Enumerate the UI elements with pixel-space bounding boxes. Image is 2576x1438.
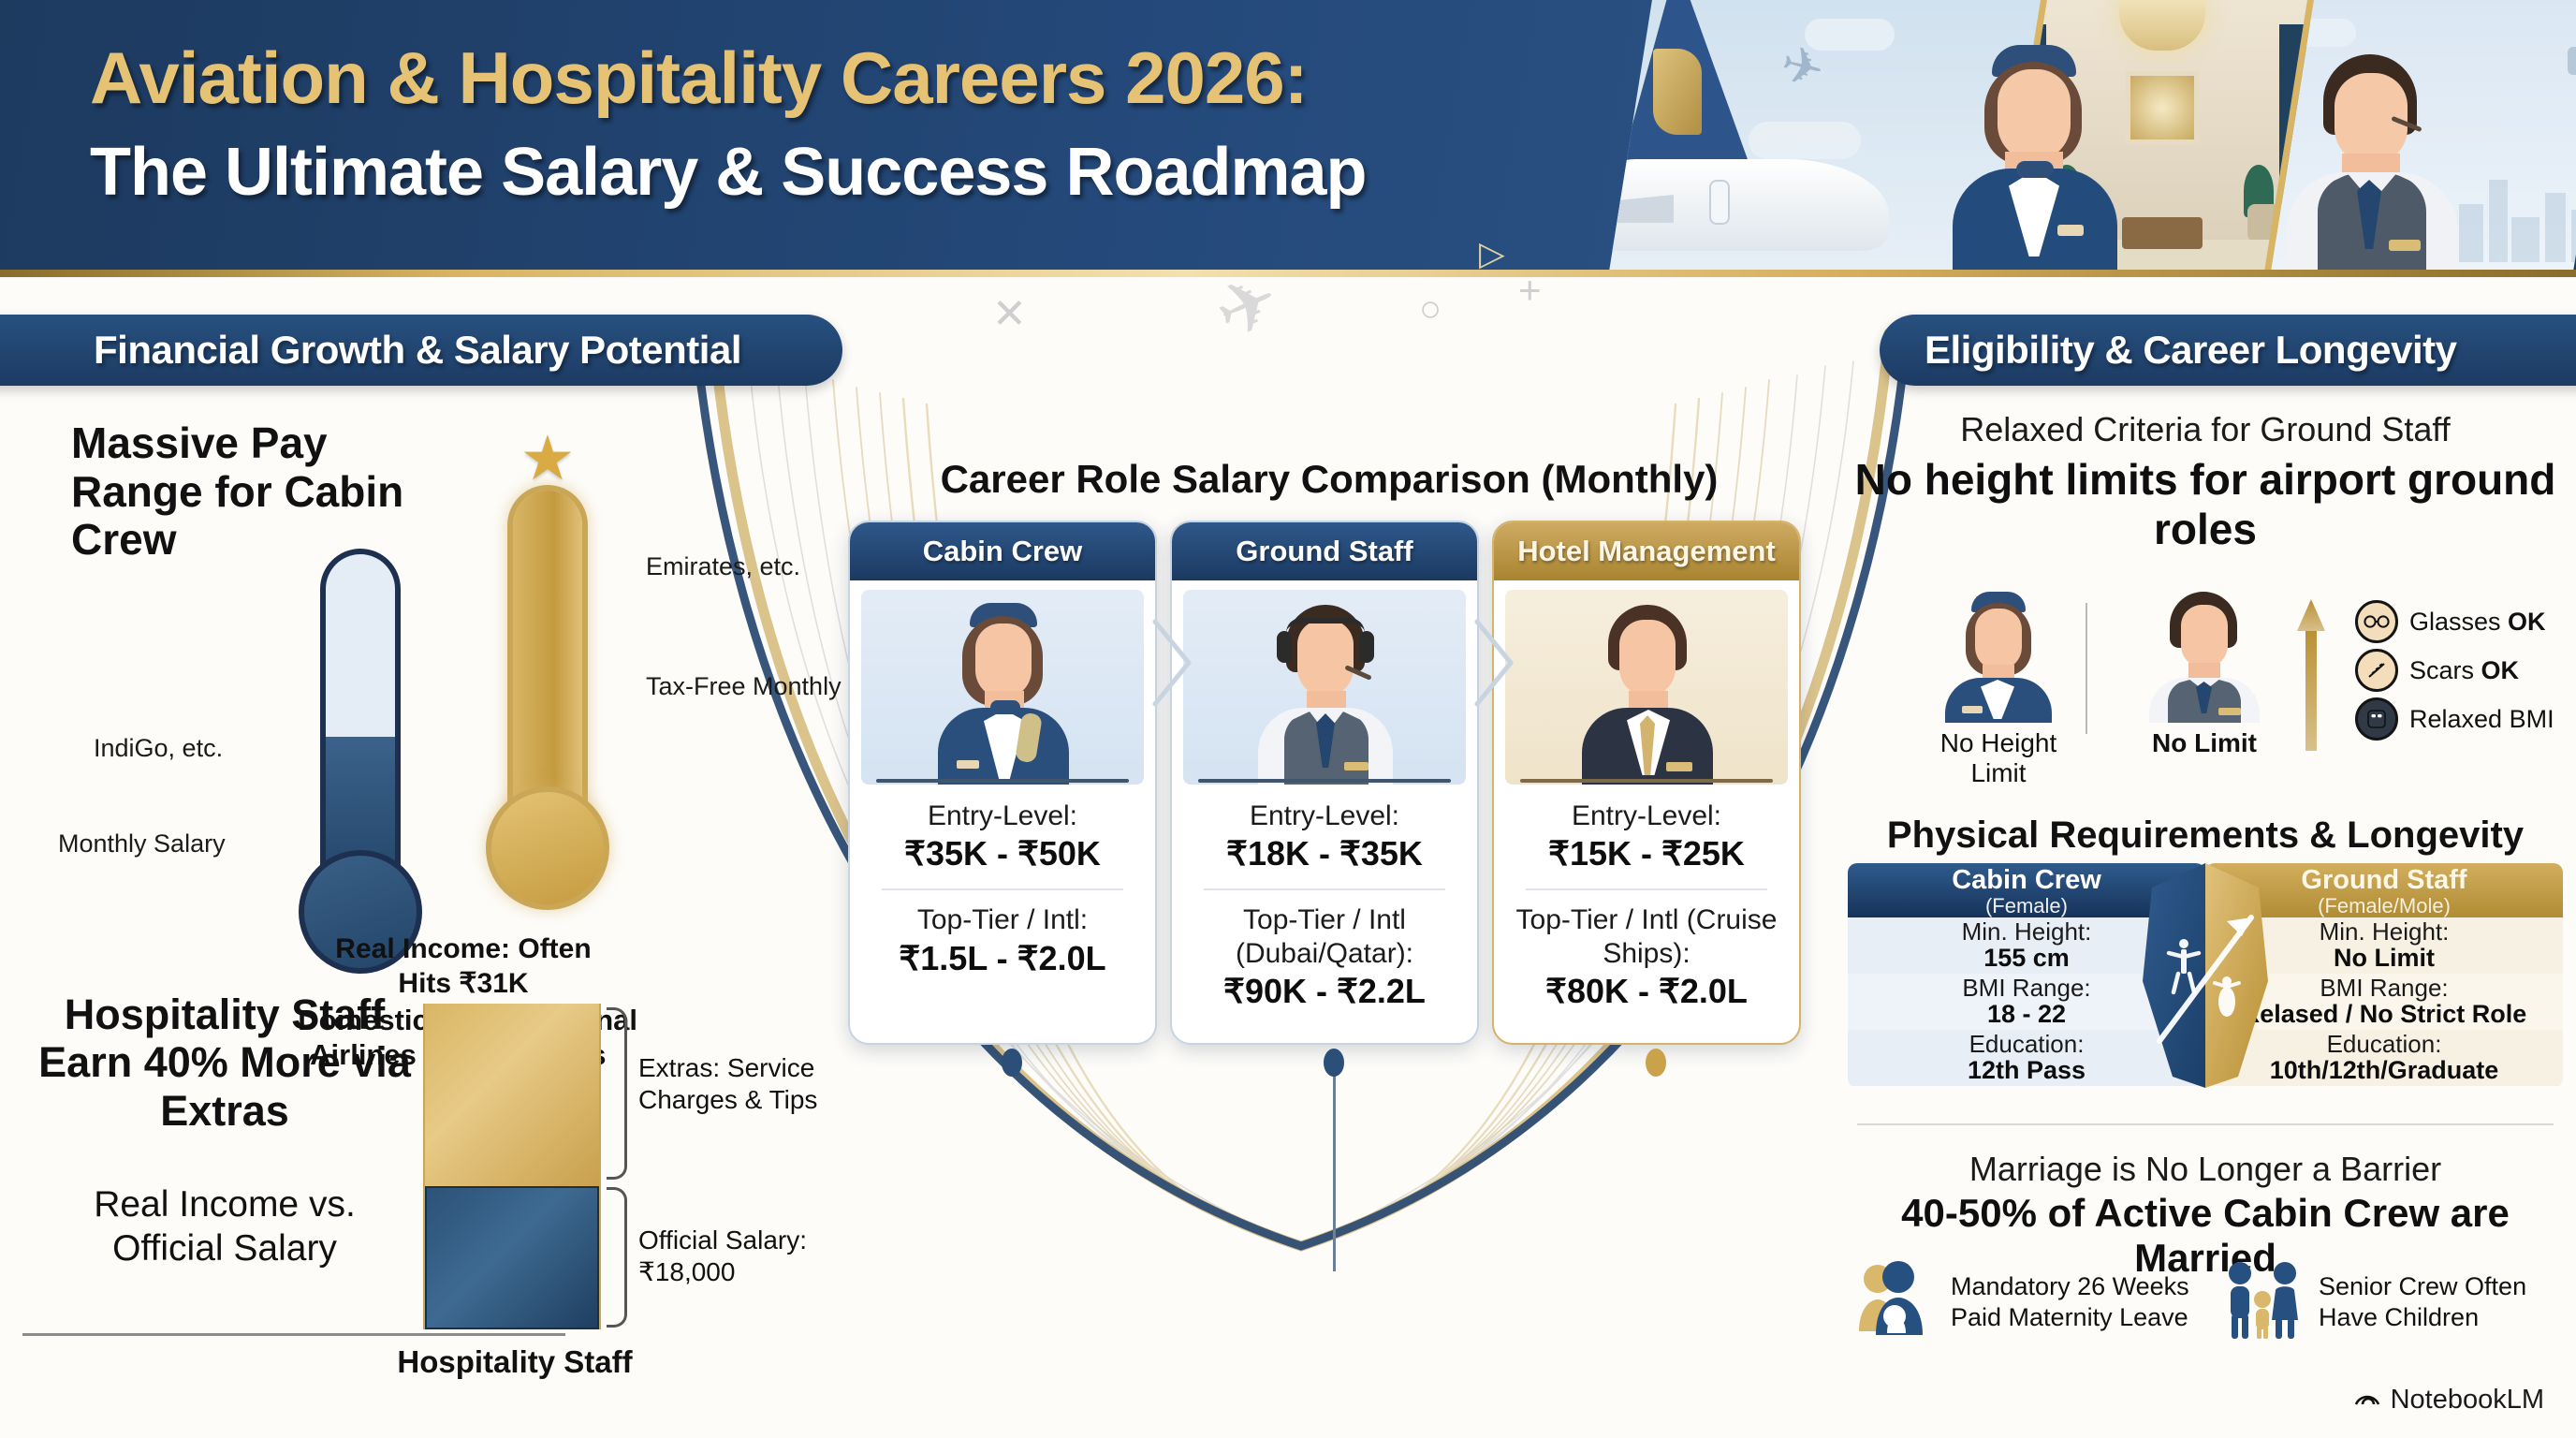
ok-label-bmi: Relaxed BMI bbox=[2409, 705, 2554, 734]
entry-value-hotel-management: ₹15K - ₹25K bbox=[1507, 834, 1786, 873]
thermometer-chart: IndiGo, etc. Monthly Salary Domestic Air… bbox=[0, 384, 824, 964]
headphone-left-icon bbox=[1277, 631, 1292, 663]
label-tax-free: Tax-Free Monthly bbox=[646, 672, 842, 701]
page-title-line1: Aviation & Hospitality Careers 2026: bbox=[90, 36, 1606, 121]
mother-child-icon bbox=[1850, 1255, 1939, 1349]
ok-item-scars: Scars OK bbox=[2355, 646, 2576, 695]
card-title-hotel-management: Hotel Management bbox=[1517, 535, 1776, 568]
top-label-cabin-crew: Top-Tier / Intl: bbox=[863, 903, 1142, 936]
top-value-ground-staff: ₹90K - ₹2.2L bbox=[1185, 972, 1464, 1011]
card-body-ground-staff: Entry-Level: ₹18K - ₹35K Top-Tier / Intl… bbox=[1172, 785, 1477, 1024]
header-ground-staff-avatar bbox=[2276, 41, 2464, 275]
wing-shape bbox=[1606, 195, 1674, 223]
airline-logo-icon bbox=[1653, 49, 1702, 135]
pr-key: Education: bbox=[1969, 1031, 2085, 1057]
thermometer-international: ★ bbox=[468, 485, 627, 925]
circle-glyph-icon: ○ bbox=[1419, 288, 1442, 330]
hospitality-total-label: Real Income: Often Hits ₹31K bbox=[309, 932, 618, 1001]
page-title-line2: The Ultimate Salary & Success Roadmap bbox=[90, 134, 1606, 211]
pr-center-wedge bbox=[2135, 863, 2276, 1088]
label-monthly-salary: Monthly Salary bbox=[58, 829, 226, 858]
hospitality-x-label: Hospitality Staff bbox=[356, 1344, 674, 1380]
growth-arrow-icon bbox=[2297, 599, 2325, 751]
marriage-item-maternity: Mandatory 26 Weeks Paid Maternity Leave bbox=[1850, 1255, 2208, 1349]
pr-key: Education: bbox=[2327, 1031, 2442, 1057]
star-icon: ★ bbox=[520, 427, 575, 489]
hospitality-bar-chart: Hospitality Staff Earn 40% More via Extr… bbox=[0, 942, 824, 1429]
top-value-cabin-crew: ₹1.5L - ₹2.0L bbox=[863, 939, 1142, 978]
family-icon bbox=[2217, 1255, 2307, 1349]
card-node-dot-1 bbox=[1002, 1049, 1022, 1077]
eligibility-ok-list: Glasses OK Scars OK Relaxed BMI bbox=[2355, 597, 2576, 743]
marriage-subheading: Marriage is No Longer a Barrier bbox=[1835, 1150, 2576, 1189]
header-image-collage: ✈ bbox=[1631, 0, 2576, 270]
center-column: ✕ ✈ ○ ▷ + Career Role Salary Comparison … bbox=[824, 309, 1835, 1438]
city-skyline bbox=[2452, 150, 2576, 262]
cross-glyph-icon: ✕ bbox=[992, 290, 1027, 338]
entry-label-cabin-crew: Entry-Level: bbox=[863, 800, 1142, 832]
card-avatar-cabin-crew bbox=[861, 590, 1144, 785]
top-label-ground-staff: Top-Tier / Intl (Dubai/Qatar): bbox=[1185, 903, 1464, 970]
scale-icon bbox=[2355, 697, 2398, 741]
hospitality-heading: Hospitality Staff Earn 40% More via Extr… bbox=[37, 990, 412, 1135]
card-header-cabin-crew: Cabin Crew bbox=[850, 522, 1155, 580]
pr-key: BMI Range: bbox=[1962, 975, 2090, 1001]
brace-official bbox=[607, 1187, 627, 1328]
card-header-hotel-management: Hotel Management bbox=[1494, 522, 1799, 580]
thermometer-domestic bbox=[281, 549, 440, 989]
thermometer-international-stem bbox=[507, 485, 588, 822]
card-divider bbox=[882, 888, 1123, 890]
pr-value: No Limit bbox=[2334, 945, 2435, 972]
annotation-official-salary: Official Salary: ₹18,000 bbox=[638, 1225, 826, 1287]
physical-requirements-table: Cabin Crew (Female) Min. Height: 155 cm … bbox=[1848, 863, 2563, 1088]
eligibility-avatar-male: No Limit bbox=[2144, 592, 2265, 758]
card-body-cabin-crew: Entry-Level: ₹35K - ₹50K Top-Tier / Intl… bbox=[850, 785, 1155, 991]
left-column: Massive Pay Range for Cabin Crew IndiGo,… bbox=[0, 384, 824, 1432]
chevron-connector-2 bbox=[1473, 618, 1518, 708]
flying-plane-icon: ✈ bbox=[1775, 33, 1830, 100]
top-label-hotel-management: Top-Tier / Intl (Cruise Ships): bbox=[1507, 903, 1786, 970]
card-node-dot-3 bbox=[1646, 1049, 1666, 1077]
marriage-item-children: Senior Crew Often Have Children bbox=[2217, 1255, 2576, 1349]
career-comparison-title: Career Role Salary Comparison (Monthly) bbox=[824, 457, 1835, 502]
section-banner-financial-label: Financial Growth & Salary Potential bbox=[94, 328, 741, 373]
right-column: Relaxed Criteria for Ground Staff No hei… bbox=[1835, 384, 2576, 1438]
brace-extras bbox=[607, 1007, 627, 1180]
section-banner-eligibility: Eligibility & Career Longevity bbox=[1880, 315, 2576, 386]
aircraft-door bbox=[1709, 180, 1730, 225]
infographic-canvas: Aviation & Hospitality Careers 2026: The… bbox=[0, 0, 2576, 1438]
header-banner: Aviation & Hospitality Careers 2026: The… bbox=[0, 0, 2576, 277]
headphone-right-icon bbox=[1359, 631, 1374, 663]
eligibility-caption-female: No Height Limit bbox=[1938, 728, 2059, 788]
title-block: Aviation & Hospitality Careers 2026: The… bbox=[90, 36, 1606, 211]
top-value-hotel-management: ₹80K - ₹2.0L bbox=[1507, 972, 1786, 1011]
entry-label-ground-staff: Entry-Level: bbox=[1185, 800, 1464, 832]
card-node-dot-2 bbox=[1324, 1049, 1344, 1077]
right-divider bbox=[1857, 1123, 2554, 1125]
marriage-text-children: Senior Crew Often Have Children bbox=[2319, 1271, 2526, 1332]
card-header-ground-staff: Ground Staff bbox=[1172, 522, 1477, 580]
marriage-icon-row: Mandatory 26 Weeks Paid Maternity Leave bbox=[1850, 1255, 2576, 1349]
eligibility-row: No Height Limit No Limit bbox=[1835, 592, 2576, 775]
pr-value: 10th/12th/Graduate bbox=[2270, 1057, 2499, 1084]
card-body-hotel-management: Entry-Level: ₹15K - ₹25K Top-Tier / Intl… bbox=[1494, 785, 1799, 1024]
pr-value: 18 - 22 bbox=[1987, 1001, 2066, 1028]
eligibility-subheading: Relaxed Criteria for Ground Staff bbox=[1835, 410, 2576, 449]
label-emirates: Emirates, etc. bbox=[646, 552, 800, 581]
entry-value-cabin-crew: ₹35K - ₹50K bbox=[863, 834, 1142, 873]
section-banner-eligibility-label: Eligibility & Career Longevity bbox=[1925, 328, 2456, 373]
section-banner-financial: Financial Growth & Salary Potential bbox=[0, 315, 842, 386]
entry-label-hotel-management: Entry-Level: bbox=[1507, 800, 1786, 832]
chandelier-icon bbox=[2120, 0, 2206, 51]
eligibility-caption-male: No Limit bbox=[2144, 728, 2265, 758]
bar-segment-extras bbox=[425, 1004, 599, 1186]
entry-value-ground-staff: ₹18K - ₹35K bbox=[1185, 834, 1464, 873]
pr-key: Min. Height: bbox=[1962, 918, 2092, 945]
pr-key: Min. Height: bbox=[2320, 918, 2450, 945]
center-stem-line bbox=[1333, 1069, 1336, 1271]
annotation-extras: Extras: Service Charges & Tips bbox=[638, 1052, 826, 1115]
card-avatar-ground-staff bbox=[1183, 590, 1466, 785]
physical-requirements-title: Physical Requirements & Longevity bbox=[1835, 814, 2576, 857]
glasses-icon bbox=[2355, 600, 2398, 643]
triangle-glyph-icon: ▷ bbox=[1479, 234, 1505, 273]
pr-value: Relased / No Strict Role bbox=[2242, 1001, 2527, 1028]
card-title-ground-staff: Ground Staff bbox=[1236, 535, 1412, 568]
header-cabin-crew-avatar bbox=[1939, 41, 2127, 275]
pr-value: 155 cm bbox=[1983, 945, 2070, 972]
chevron-connector-1 bbox=[1151, 618, 1196, 708]
thermometer-international-bulb bbox=[486, 786, 609, 910]
eligibility-divider bbox=[2086, 603, 2087, 734]
card-title-cabin-crew: Cabin Crew bbox=[923, 535, 1083, 568]
thermometer-domestic-stem bbox=[320, 549, 401, 886]
ok-label-glasses: Glasses OK bbox=[2409, 608, 2546, 637]
thermometer-international-fill bbox=[513, 491, 582, 822]
header-gold-divider bbox=[0, 270, 2576, 277]
career-card-hotel-management[interactable]: Hotel Management Entry-Level: bbox=[1492, 521, 1801, 1045]
scar-icon bbox=[2355, 649, 2398, 692]
pr-value: 12th Pass bbox=[1968, 1057, 2086, 1084]
card-avatar-hotel-management bbox=[1505, 590, 1788, 785]
label-indigo: IndiGo, etc. bbox=[94, 734, 223, 763]
bar-segment-official-salary bbox=[425, 1186, 599, 1329]
hospitality-bar bbox=[423, 1004, 601, 1329]
card-divider bbox=[1526, 888, 1767, 890]
eligibility-avatar-female: No Height Limit bbox=[1938, 592, 2059, 788]
pr-key: BMI Range: bbox=[2320, 975, 2448, 1001]
marriage-text-maternity: Mandatory 26 Weeks Paid Maternity Leave bbox=[1951, 1271, 2189, 1332]
career-card-cabin-crew[interactable]: Cabin Crew bbox=[848, 521, 1157, 1045]
hospitality-subheading: Real Income vs. Official Salary bbox=[37, 1183, 412, 1271]
card-divider bbox=[1204, 888, 1445, 890]
ok-label-scars: Scars OK bbox=[2409, 656, 2519, 685]
hospitality-axis-line bbox=[22, 1333, 565, 1336]
career-card-ground-staff[interactable]: Ground Staff bbox=[1170, 521, 1479, 1045]
eligibility-heading: No height limits for airport ground role… bbox=[1835, 455, 2576, 555]
ok-item-glasses: Glasses OK bbox=[2355, 597, 2576, 646]
ok-item-bmi: Relaxed BMI bbox=[2355, 695, 2576, 743]
career-card-row: Cabin Crew bbox=[848, 521, 1822, 1045]
